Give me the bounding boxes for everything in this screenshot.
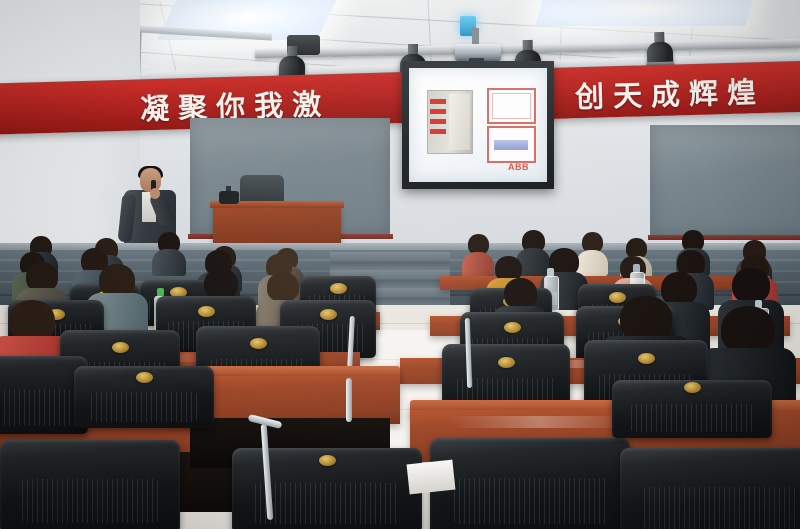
projection-screen: ABB xyxy=(409,68,547,182)
presenter-hand xyxy=(150,188,160,199)
conference-room-photo: 凝聚你我激 创天成辉煌 ABB xyxy=(0,0,800,529)
banner-text-right: 创天成辉煌 xyxy=(574,69,765,116)
ceiling-light-icon xyxy=(535,0,755,26)
audience-member xyxy=(152,232,186,276)
chair xyxy=(430,438,630,529)
chair xyxy=(74,366,214,428)
chair xyxy=(612,380,772,438)
wall-board-right xyxy=(650,125,800,237)
chair xyxy=(232,448,422,529)
slide-diagram-bar xyxy=(494,140,528,150)
chair xyxy=(0,440,180,529)
slide-diagram-box-2 xyxy=(487,126,536,163)
slide-diagram-box-1 xyxy=(487,88,536,124)
projection-screen-frame: ABB xyxy=(402,61,554,189)
wall-board-right-frame xyxy=(648,235,800,240)
chair-chrome-frame xyxy=(346,378,352,422)
slide-cabinet-image xyxy=(427,90,473,154)
chair xyxy=(620,448,800,529)
paper-sheet xyxy=(407,460,456,495)
lectern-microphone-icon xyxy=(219,191,239,204)
abb-logo: ABB xyxy=(508,162,529,172)
